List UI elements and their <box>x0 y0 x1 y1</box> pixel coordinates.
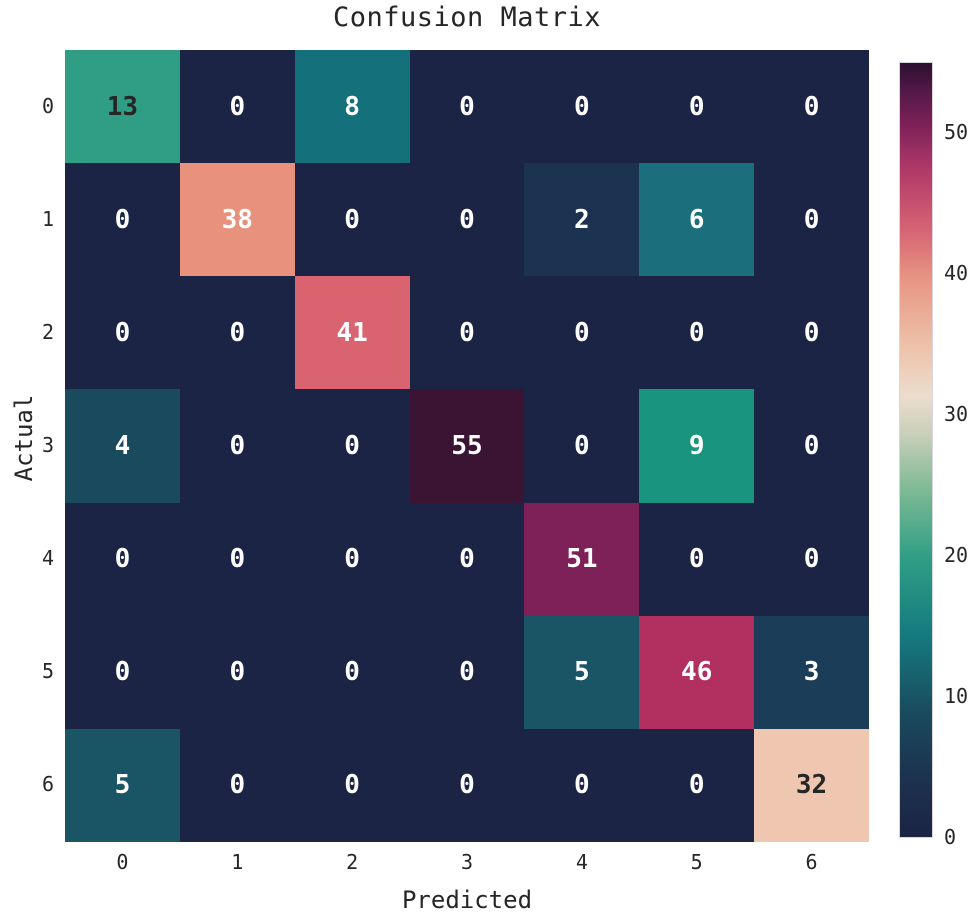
heatmap-cell: 32 <box>754 729 869 842</box>
heatmap-cell-value: 41 <box>336 320 367 346</box>
heatmap-cell-value: 0 <box>689 320 705 346</box>
heatmap-cell-value: 0 <box>115 546 131 572</box>
y-tick-label: 1 <box>20 207 54 231</box>
heatmap-cell: 0 <box>754 163 869 276</box>
heatmap-cell: 0 <box>410 503 525 616</box>
x-tick-label: 6 <box>782 850 842 874</box>
heatmap-cell: 0 <box>65 616 180 729</box>
y-tick-label: 6 <box>20 772 54 796</box>
heatmap-cell-value: 3 <box>804 659 820 685</box>
heatmap-cell: 0 <box>524 389 639 502</box>
heatmap-cell: 0 <box>410 616 525 729</box>
heatmap-cell-value: 0 <box>689 546 705 572</box>
heatmap-cell-value: 4 <box>115 433 131 459</box>
colorbar-tick-label: 10 <box>944 684 968 708</box>
heatmap-cell: 0 <box>295 503 410 616</box>
heatmap-cell-value: 51 <box>566 546 597 572</box>
heatmap-cell: 0 <box>639 50 754 163</box>
heatmap-cell: 0 <box>410 276 525 389</box>
heatmap-cell-value: 0 <box>229 546 245 572</box>
heatmap-cell: 0 <box>754 503 869 616</box>
heatmap-cell: 2 <box>524 163 639 276</box>
heatmap-cell: 51 <box>524 503 639 616</box>
heatmap-cell-value: 6 <box>689 207 705 233</box>
heatmap-cell: 41 <box>295 276 410 389</box>
heatmap-cell-value: 0 <box>459 772 475 798</box>
heatmap-cell: 0 <box>524 729 639 842</box>
x-tick-label: 3 <box>437 850 497 874</box>
heatmap-cell-value: 0 <box>804 546 820 572</box>
heatmap-cell: 13 <box>65 50 180 163</box>
heatmap-cell: 0 <box>65 276 180 389</box>
heatmap-cell: 0 <box>180 503 295 616</box>
heatmap-cell: 0 <box>295 729 410 842</box>
heatmap-cell-value: 55 <box>451 433 482 459</box>
heatmap-cell: 0 <box>180 729 295 842</box>
heatmap-cell-value: 0 <box>229 772 245 798</box>
heatmap-cell-value: 32 <box>796 772 827 798</box>
heatmap-cell-value: 0 <box>459 546 475 572</box>
heatmap-cell-value: 0 <box>115 659 131 685</box>
heatmap-cell: 0 <box>754 389 869 502</box>
colorbar-tick-label: 50 <box>944 120 968 144</box>
colorbar <box>899 62 933 838</box>
heatmap-cell: 0 <box>524 50 639 163</box>
heatmap-cell-value: 0 <box>115 320 131 346</box>
x-axis-label: Predicted <box>65 886 869 914</box>
heatmap-cell-value: 46 <box>681 659 712 685</box>
y-axis-label: Actual <box>10 318 38 558</box>
confusion-matrix-figure: Confusion Matrix 13080000038002600041000… <box>0 0 980 923</box>
heatmap-cell: 5 <box>524 616 639 729</box>
heatmap-cell: 0 <box>295 616 410 729</box>
heatmap-cell-value: 0 <box>804 207 820 233</box>
heatmap-cell-value: 0 <box>344 433 360 459</box>
x-tick-label: 4 <box>552 850 612 874</box>
heatmap-cell-value: 2 <box>574 207 590 233</box>
x-tick-label: 2 <box>322 850 382 874</box>
heatmap-cell-value: 13 <box>107 94 138 120</box>
colorbar-tick-label: 20 <box>944 543 968 567</box>
x-tick-label: 0 <box>92 850 152 874</box>
heatmap-cell: 4 <box>65 389 180 502</box>
heatmap-cell-value: 0 <box>459 320 475 346</box>
heatmap-cell: 0 <box>180 276 295 389</box>
heatmap-cell: 0 <box>754 276 869 389</box>
heatmap-cell-value: 8 <box>344 94 360 120</box>
heatmap-cell-value: 5 <box>574 659 590 685</box>
heatmap-cell-value: 0 <box>229 659 245 685</box>
heatmap-cell: 0 <box>639 503 754 616</box>
heatmap-cell-value: 0 <box>804 433 820 459</box>
heatmap-cell: 0 <box>65 503 180 616</box>
heatmap-cell-value: 0 <box>229 433 245 459</box>
heatmap-cell: 0 <box>180 389 295 502</box>
heatmap-cell-value: 0 <box>459 659 475 685</box>
heatmap-cell-value: 0 <box>229 94 245 120</box>
heatmap-cell: 46 <box>639 616 754 729</box>
heatmap-cell-value: 0 <box>804 320 820 346</box>
heatmap-cell: 0 <box>295 389 410 502</box>
heatmap-cell: 5 <box>65 729 180 842</box>
heatmap-cell: 0 <box>524 276 639 389</box>
heatmap-cell-value: 0 <box>459 94 475 120</box>
heatmap-cell: 8 <box>295 50 410 163</box>
heatmap-cell: 0 <box>410 50 525 163</box>
heatmap-cell-value: 0 <box>574 94 590 120</box>
heatmap-cell: 3 <box>754 616 869 729</box>
heatmap-cell: 0 <box>639 276 754 389</box>
x-tick-label: 5 <box>667 850 727 874</box>
heatmap-cell-value: 0 <box>344 546 360 572</box>
heatmap-cell: 0 <box>639 729 754 842</box>
heatmap-cell-value: 0 <box>229 320 245 346</box>
y-tick-label: 0 <box>20 94 54 118</box>
y-tick-label: 5 <box>20 659 54 683</box>
heatmap-cell: 0 <box>180 616 295 729</box>
heatmap-cell: 9 <box>639 389 754 502</box>
heatmap-cell: 38 <box>180 163 295 276</box>
heatmap-cell-value: 0 <box>459 207 475 233</box>
heatmap-cell: 0 <box>65 163 180 276</box>
heatmap-cell: 0 <box>180 50 295 163</box>
heatmap-cell-value: 0 <box>115 207 131 233</box>
heatmap-cell: 55 <box>410 389 525 502</box>
heatmap-cell-value: 0 <box>344 772 360 798</box>
heatmap-cell-value: 0 <box>574 772 590 798</box>
heatmap-grid: 1308000003800260004100004005509000005100… <box>65 50 869 842</box>
colorbar-tick-label: 0 <box>944 825 956 849</box>
heatmap-cell-value: 0 <box>344 207 360 233</box>
heatmap-cell-value: 9 <box>689 433 705 459</box>
heatmap-cell-value: 38 <box>222 207 253 233</box>
heatmap-cell-value: 0 <box>574 433 590 459</box>
heatmap-cell: 0 <box>410 729 525 842</box>
heatmap-cell-value: 0 <box>574 320 590 346</box>
heatmap-cell-value: 0 <box>344 659 360 685</box>
heatmap-cell-value: 5 <box>115 772 131 798</box>
x-tick-label: 1 <box>207 850 267 874</box>
heatmap-cell: 0 <box>410 163 525 276</box>
colorbar-tick-label: 30 <box>944 402 968 426</box>
heatmap-cell-value: 0 <box>689 772 705 798</box>
page-title: Confusion Matrix <box>65 2 869 33</box>
heatmap-cell-value: 0 <box>689 94 705 120</box>
heatmap-cell: 0 <box>754 50 869 163</box>
heatmap-cell: 0 <box>295 163 410 276</box>
heatmap-cell-value: 0 <box>804 94 820 120</box>
colorbar-tick-label: 40 <box>944 261 968 285</box>
heatmap-cell: 6 <box>639 163 754 276</box>
